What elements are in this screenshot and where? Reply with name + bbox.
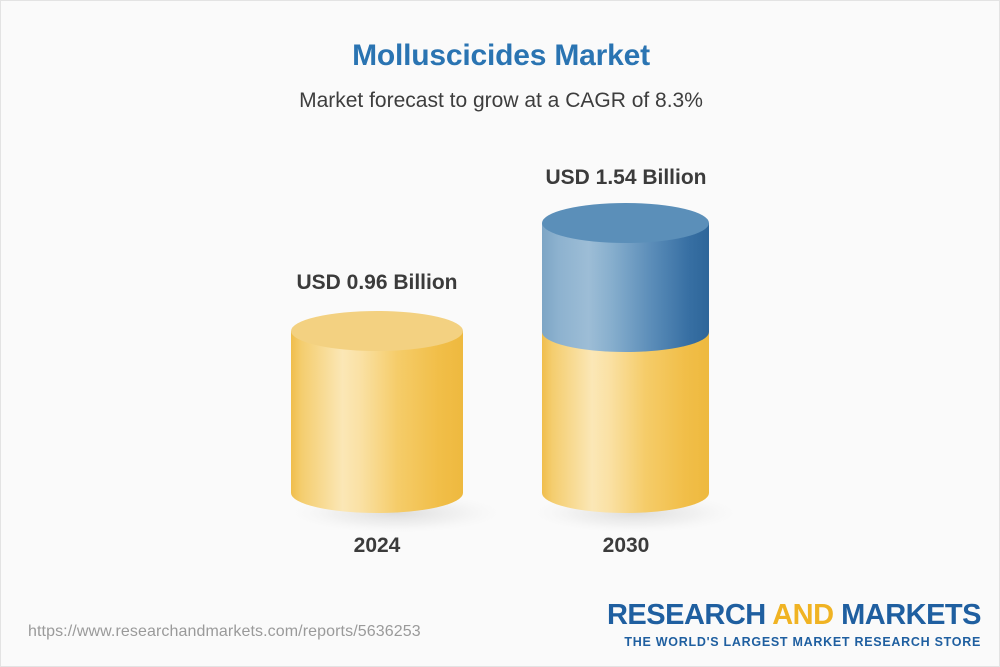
cylinder-chart-plot — [1, 1, 1000, 667]
research-and-markets-logo[interactable]: RESEARCH AND MARKETS THE WORLD'S LARGEST… — [607, 601, 981, 649]
logo-tagline: THE WORLD'S LARGEST MARKET RESEARCH STOR… — [607, 636, 981, 649]
data-label-2024: USD 0.96 Billion — [277, 271, 477, 295]
logo-wordmark: RESEARCH AND MARKETS — [607, 601, 981, 630]
chart-canvas: Molluscicides Market Market forecast to … — [0, 0, 1000, 667]
category-label-2030: 2030 — [546, 534, 706, 558]
category-label-2024: 2024 — [297, 534, 457, 558]
cylinder-2030-top — [542, 203, 709, 243]
cylinder-2024 — [291, 311, 463, 513]
cylinder-2030 — [542, 203, 709, 513]
logo-and-text: AND — [772, 599, 833, 631]
logo-research-text: RESEARCH — [607, 599, 772, 631]
data-label-2030: USD 1.54 Billion — [526, 166, 726, 190]
logo-markets-text: MARKETS — [834, 599, 981, 631]
cylinder-2024-top — [291, 311, 463, 351]
report-url-link[interactable]: https://www.researchandmarkets.com/repor… — [28, 623, 421, 641]
